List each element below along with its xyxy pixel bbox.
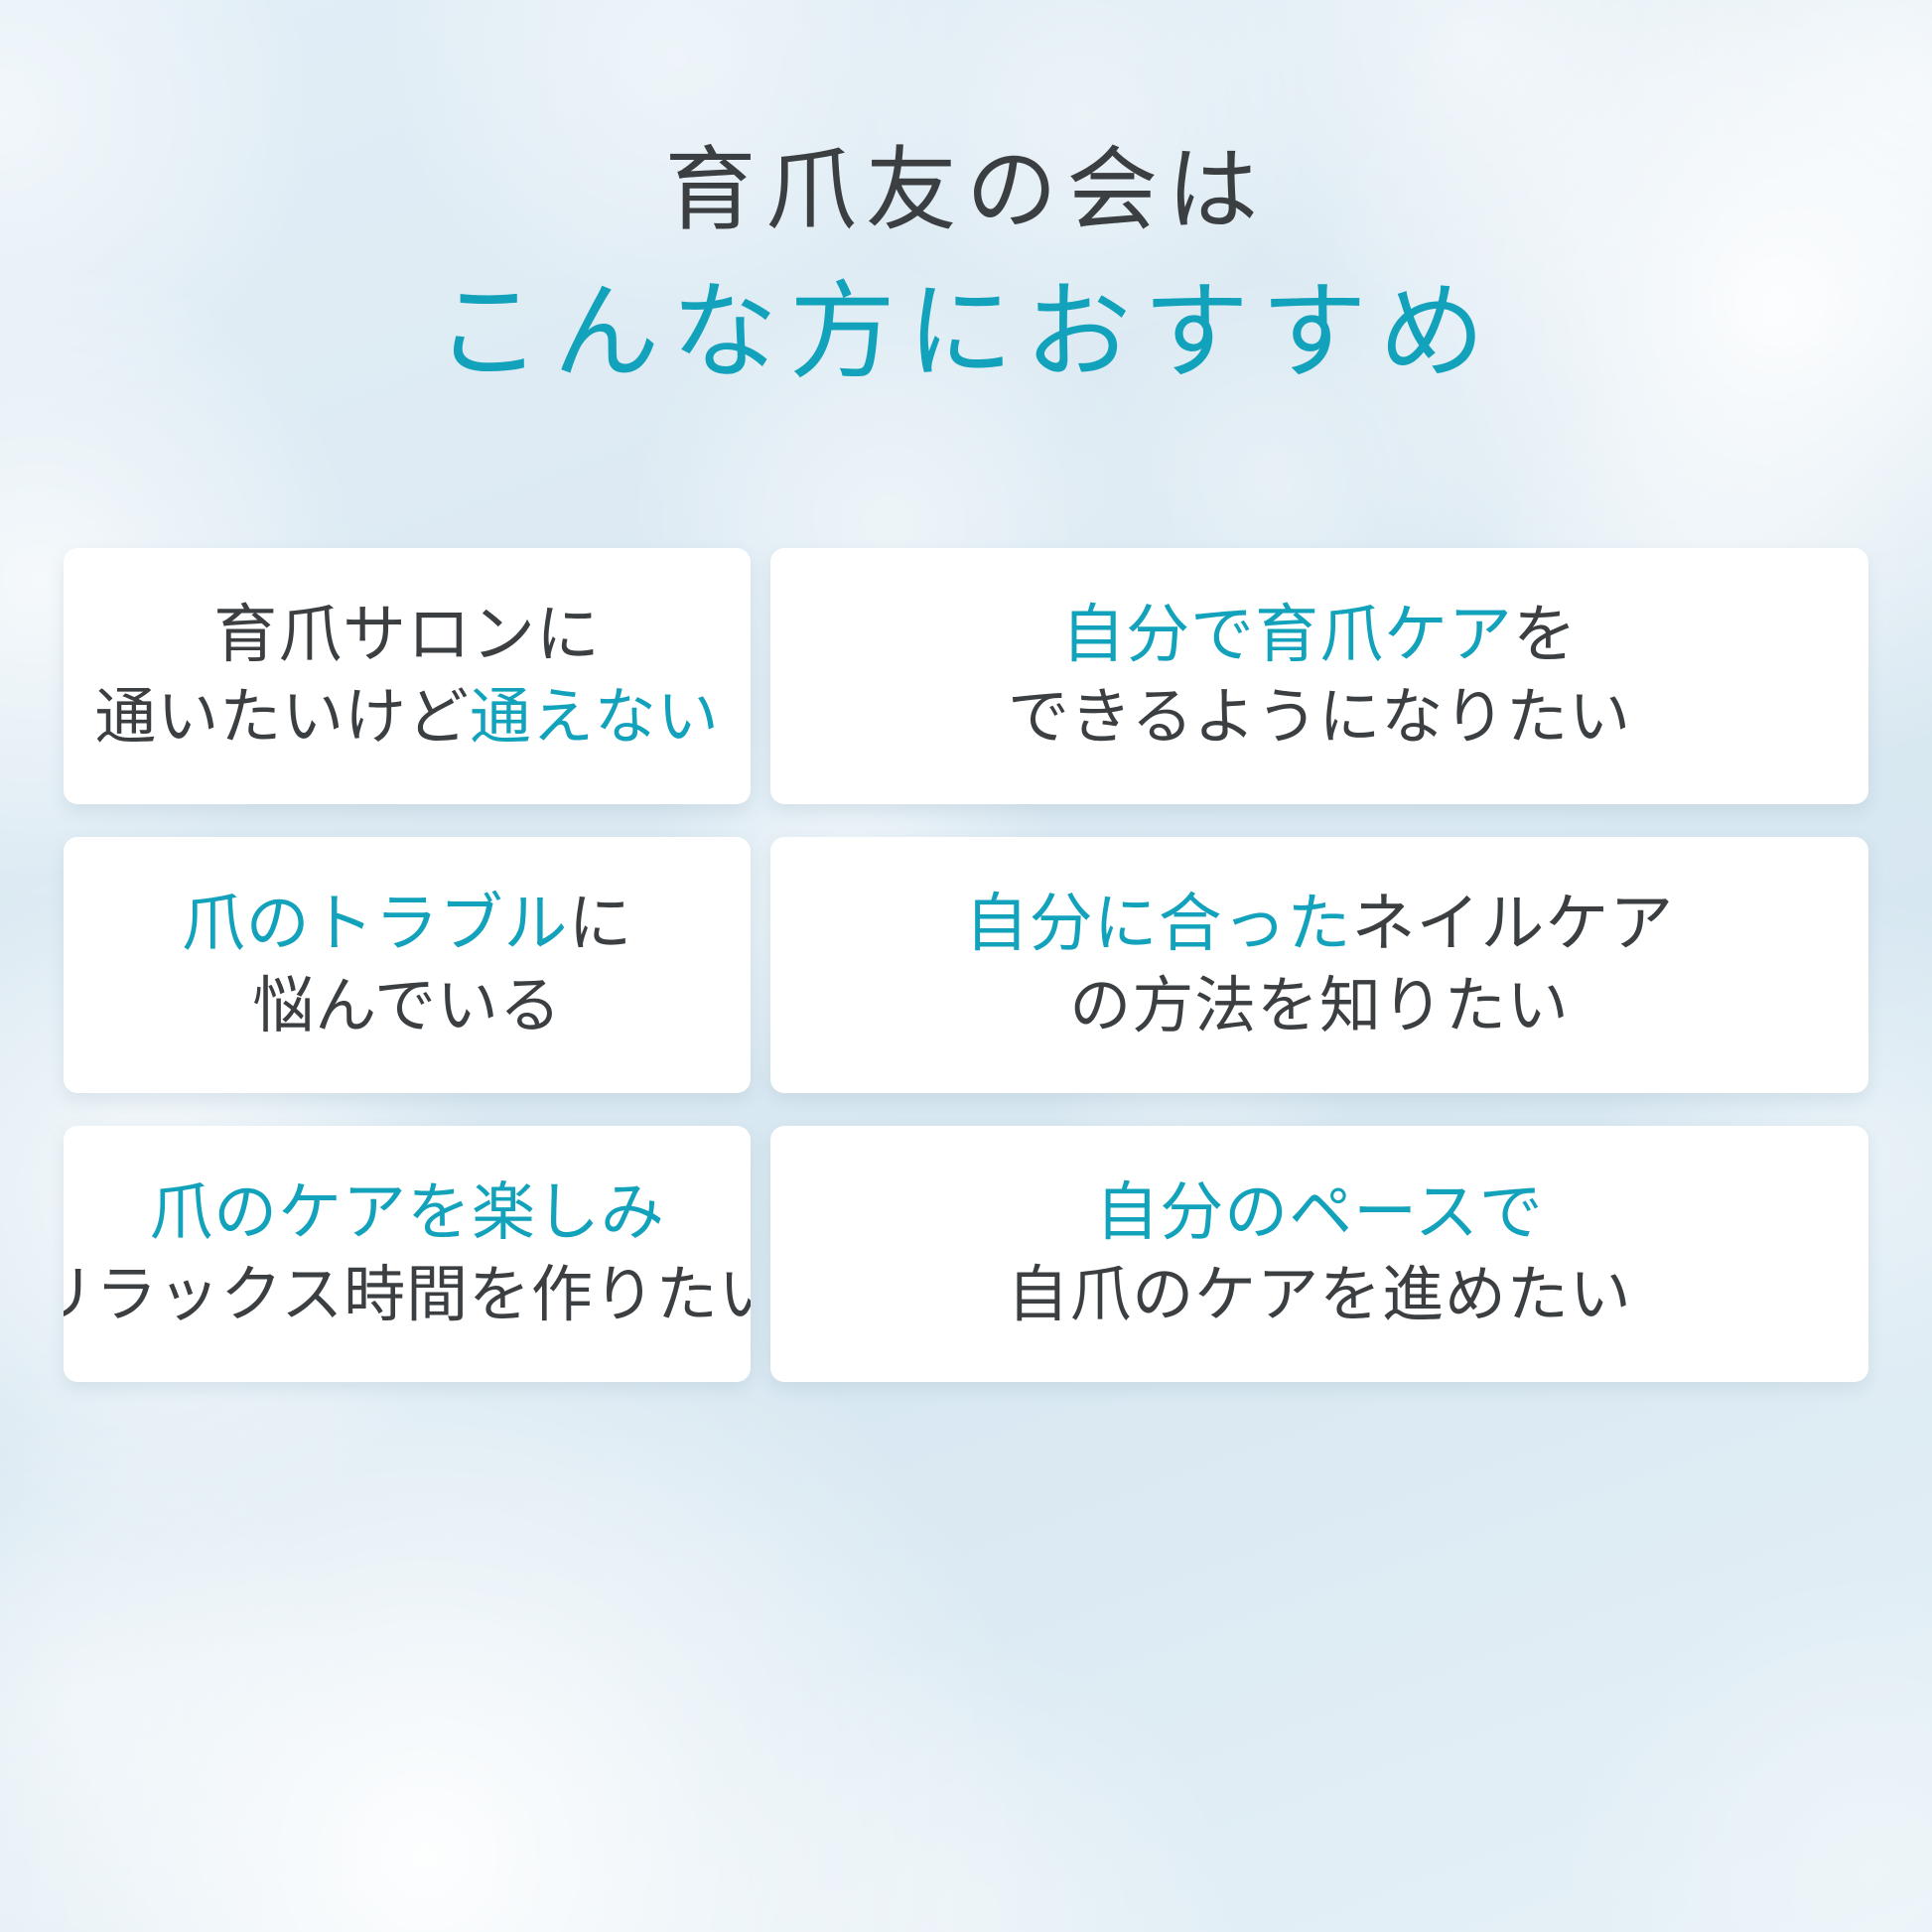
card-line-1: 自分で育爪ケアを (1061, 595, 1578, 677)
poster-canvas: 育爪友の会は こんな方におすすめ 育爪サロンに 通いたいけど通えない 自分で育爪… (0, 0, 1932, 1932)
card-text-run: できるようになりたい (1008, 680, 1631, 753)
card-line-1: 爪のケアを楽しみ (149, 1173, 665, 1255)
card-line-2: できるようになりたい (1008, 677, 1631, 758)
card-line-1: 自分のペースで (1095, 1173, 1544, 1255)
recommendation-card[interactable]: 爪のトラブルに 悩んでいる (64, 837, 751, 1093)
card-text-run: 通いたいけど (94, 680, 470, 753)
recommendation-card-grid: 育爪サロンに 通いたいけど通えない 自分で育爪ケアを できるようになりたい 爪の… (64, 548, 1868, 1382)
page-title-line-1: 育爪友の会は (0, 145, 1932, 236)
card-text-run: の方法を知りたい (1069, 969, 1569, 1041)
card-line-1: 爪のトラブルに (182, 884, 633, 966)
card-text-run: 爪のケアを楽しみ (149, 1176, 665, 1250)
card-text-run: 自分のペースで (1095, 1176, 1544, 1250)
card-line-2: リラックス時間を作りたい (64, 1255, 751, 1335)
card-line-2: 自爪のケアを進めたい (1007, 1255, 1631, 1335)
card-text-run: 通えない (470, 680, 720, 753)
card-text-run: に (568, 888, 632, 961)
card-text-run: ネイルケア (1351, 888, 1674, 961)
recommendation-card[interactable]: 自分に合ったネイルケア の方法を知りたい (770, 837, 1868, 1093)
card-line-2: 通いたいけど通えない (94, 677, 719, 758)
recommendation-card[interactable]: 爪のケアを楽しみ リラックス時間を作りたい (64, 1126, 751, 1382)
card-text-run: リラックス時間を作りたい (64, 1258, 751, 1330)
card-text-run: 自爪のケアを進めたい (1007, 1258, 1631, 1330)
card-line-1: 自分に合ったネイルケア (965, 884, 1675, 966)
card-text-run: 自分に合った (965, 888, 1352, 961)
card-line-2: 悩んでいる (252, 966, 562, 1046)
card-line-1: 育爪サロンに (213, 595, 601, 677)
recommendation-card[interactable]: 育爪サロンに 通いたいけど通えない (64, 548, 751, 804)
card-text-run: 育爪サロンに (213, 599, 601, 672)
card-text-run: 自分で育爪ケア (1061, 599, 1513, 672)
recommendation-card[interactable]: 自分のペースで 自爪のケアを進めたい (770, 1126, 1868, 1382)
page-title: 育爪友の会は こんな方におすすめ (0, 145, 1932, 386)
card-text-run: を (1513, 599, 1578, 672)
recommendation-card[interactable]: 自分で育爪ケアを できるようになりたい (770, 548, 1868, 804)
card-line-2: の方法を知りたい (1069, 966, 1569, 1046)
card-text-run: 爪のトラブル (182, 888, 569, 961)
card-text-run: 悩んでいる (252, 969, 562, 1041)
page-title-line-2: こんな方におすすめ (0, 280, 1932, 386)
